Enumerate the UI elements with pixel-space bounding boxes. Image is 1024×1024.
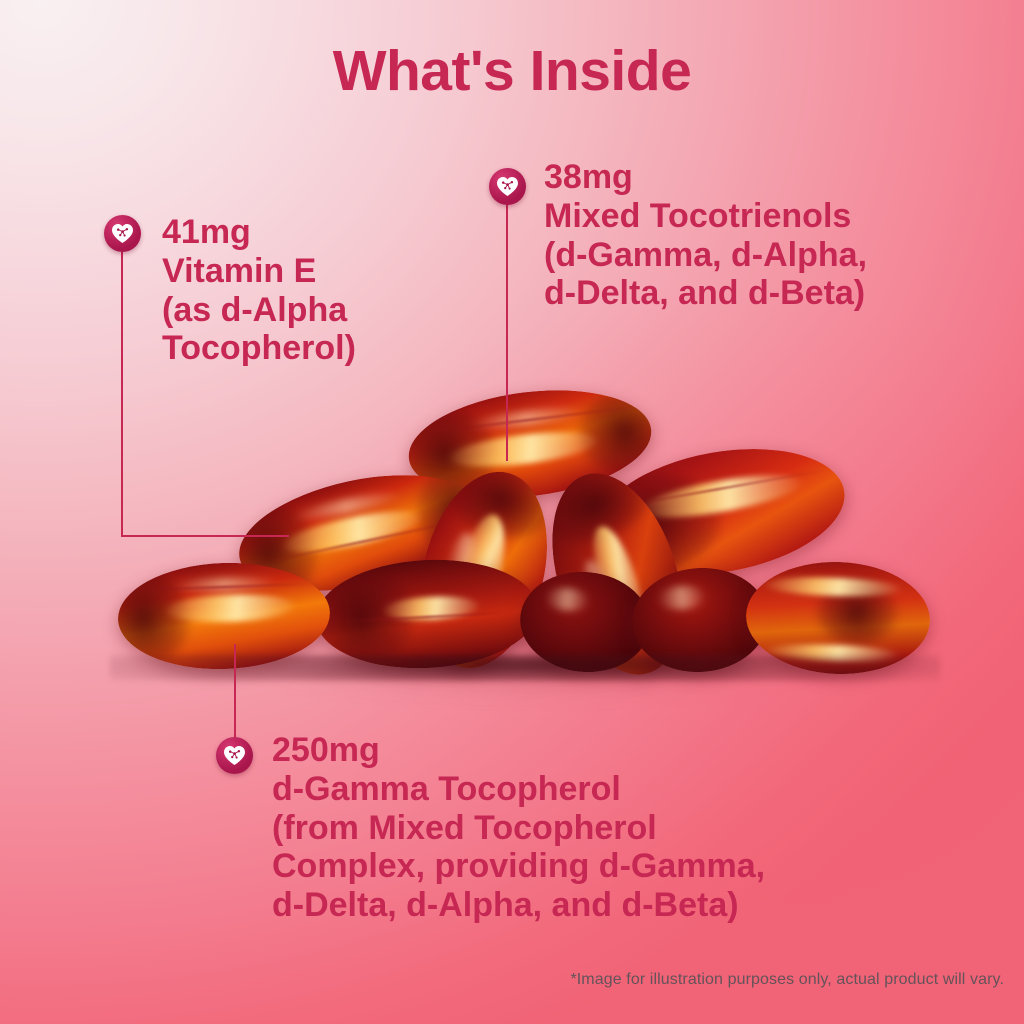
leader-line-vitamin-e-horizontal [121, 535, 289, 537]
callout-d-gamma-tocopherol: 250mg d-Gamma Tocopherol (from Mixed Toc… [272, 731, 765, 925]
callout-vitamin-e: 41mg Vitamin E (as d-Alpha Tocopherol) [162, 213, 356, 368]
callout-mixed-tocotrienols: 38mg Mixed Tocotrienols (d-Gamma, d-Alph… [544, 158, 867, 313]
heart-icon [496, 176, 519, 197]
leader-line-vitamin-e-vertical [121, 250, 123, 537]
heart-icon-badge-vitamin-e [104, 215, 141, 252]
leader-line-tocotrienols [506, 203, 508, 461]
disclaimer-footnote: *Image for illustration purposes only, a… [570, 971, 1004, 989]
infographic-canvas: What's Inside [0, 0, 1024, 1024]
heart-icon [223, 745, 246, 766]
heart-icon-badge-tocopherol [216, 737, 253, 774]
heart-icon [111, 223, 134, 244]
heart-icon-badge-tocotrienols [489, 168, 526, 205]
leader-line-tocopherol [234, 644, 236, 739]
